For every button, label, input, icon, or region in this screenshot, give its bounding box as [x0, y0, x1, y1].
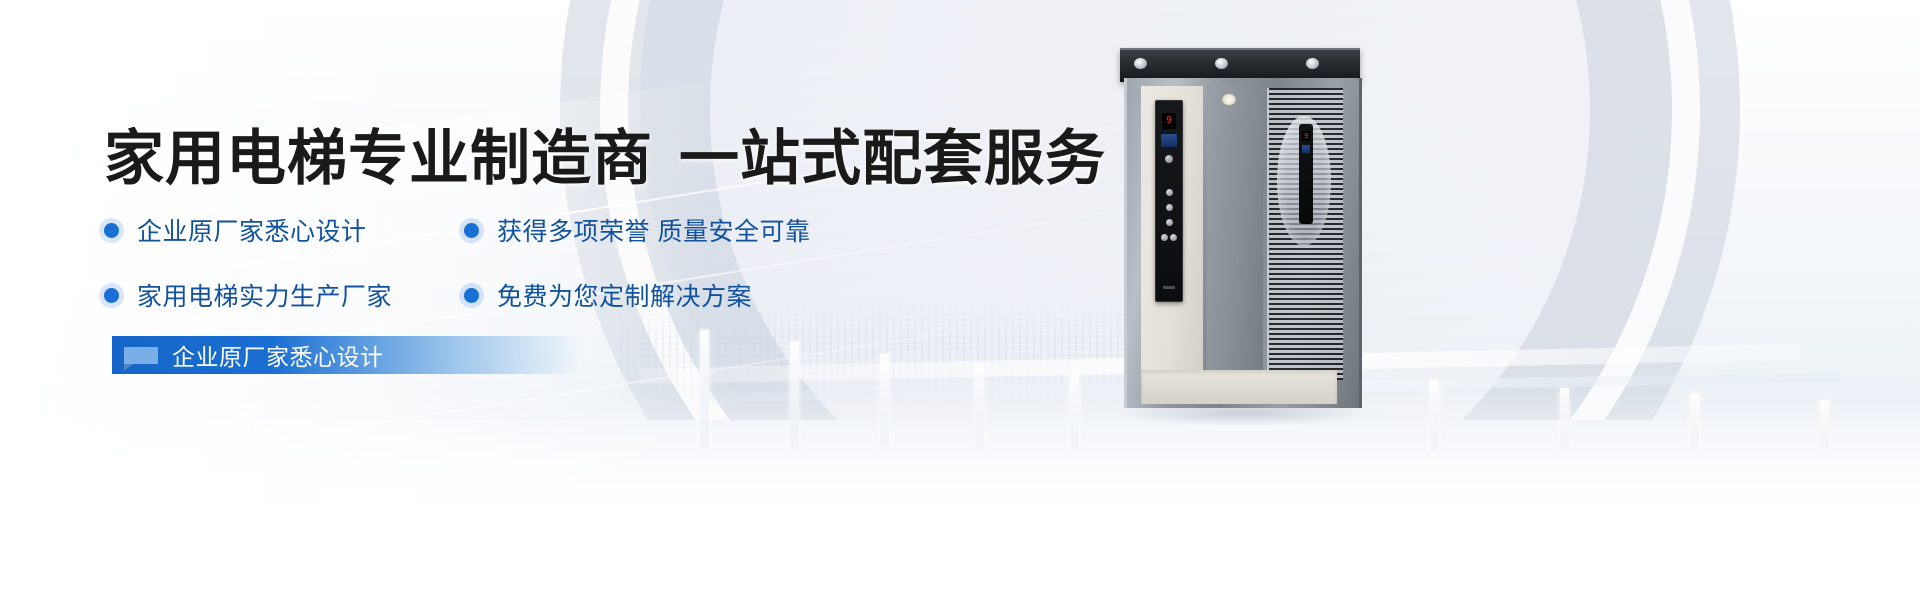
- brand-logo-plate: [1163, 286, 1175, 289]
- banner-headline: 家用电梯专业制造商一站式配套服务: [104, 110, 1106, 197]
- floor-button-icon: [1166, 189, 1173, 196]
- mirrored-floor-indicator: 9: [1302, 131, 1310, 141]
- floor-indicator-display: 9: [1162, 113, 1176, 129]
- door-close-button-icon: [1170, 234, 1177, 241]
- banner-content: 家用电梯专业制造商一站式配套服务 企业原厂家悉心设计 获得多项荣誉 质量安全可靠…: [0, 0, 1100, 600]
- door-open-button-icon: [1161, 234, 1168, 241]
- feature-label: 免费为您定制解决方案: [497, 277, 752, 313]
- feature-bullet-list: 企业原厂家悉心设计 获得多项荣誉 质量安全可靠 家用电梯实力生产厂家 免费为您定…: [104, 212, 924, 313]
- ceiling-lamp-icon: [1306, 58, 1319, 69]
- feature-item: 免费为您定制解决方案: [464, 277, 752, 313]
- emergency-knob-icon: [1165, 155, 1173, 163]
- floor-button-icon: [1166, 219, 1173, 226]
- bullet-dot-icon: [464, 288, 479, 303]
- ceiling-lamp-icon: [1215, 58, 1228, 69]
- bullet-dot-icon: [104, 223, 119, 238]
- mirrored-control-panel: 9: [1299, 124, 1313, 224]
- elevator-control-panel: 9: [1155, 100, 1183, 302]
- elevator-ceiling: [1120, 48, 1360, 82]
- promotional-banner: 9 9: [0, 0, 1920, 600]
- headline-part-2: 一站式配套服务: [679, 125, 1106, 192]
- cabin-downlight-icon: [1222, 94, 1236, 105]
- flag-icon: [124, 347, 158, 364]
- bullet-row: 家用电梯实力生产厂家 免费为您定制解决方案: [104, 277, 924, 313]
- feature-item: 家用电梯实力生产厂家: [104, 277, 464, 313]
- ceiling-lamp-icon: [1134, 58, 1147, 69]
- cabin-back-mirror: 9: [1267, 88, 1343, 380]
- elevator-cabin: 9 9: [1124, 78, 1362, 408]
- home-elevator-image: 9 9: [1120, 48, 1360, 408]
- headline-part-1: 家用电梯专业制造商: [104, 125, 653, 192]
- feature-label: 家用电梯实力生产厂家: [137, 277, 392, 313]
- floor-button-icon: [1166, 204, 1173, 211]
- info-screen: [1161, 134, 1177, 147]
- mirrored-info-screen: [1302, 145, 1310, 153]
- cabin-wall-grey: [1207, 84, 1263, 384]
- highlight-tag-label: 企业原厂家悉心设计: [172, 338, 384, 372]
- feature-label: 企业原厂家悉心设计: [137, 212, 367, 248]
- highlight-tag[interactable]: 企业原厂家悉心设计: [112, 336, 582, 374]
- feature-item: 获得多项荣誉 质量安全可靠: [464, 212, 810, 248]
- bullet-dot-icon: [104, 288, 119, 303]
- cabin-floor-tile: [1141, 370, 1337, 404]
- mirrored-floor-value: 9: [1304, 132, 1308, 140]
- feature-label: 获得多项荣誉 质量安全可靠: [497, 212, 810, 248]
- floor-indicator-value: 9: [1166, 116, 1172, 126]
- bullet-dot-icon: [464, 223, 479, 238]
- bullet-row: 企业原厂家悉心设计 获得多项荣誉 质量安全可靠: [104, 212, 924, 248]
- feature-item: 企业原厂家悉心设计: [104, 212, 464, 248]
